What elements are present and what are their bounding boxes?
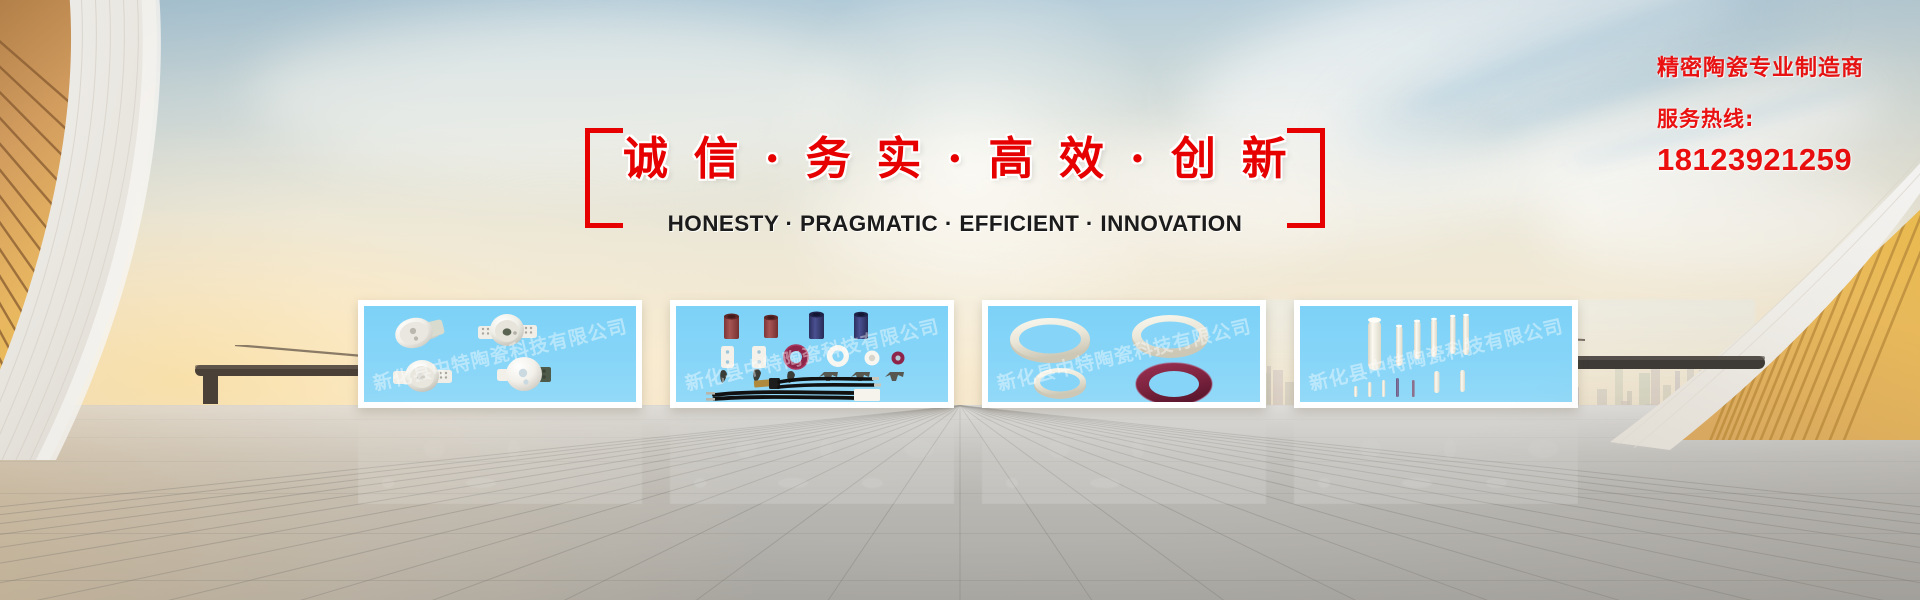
rods-image	[1300, 306, 1572, 402]
product-panel-ceramic-lamp-holders[interactable]: 新化县中特陶瓷科技有限公司	[358, 300, 642, 408]
lamp-holders-image	[364, 306, 636, 402]
slogan-chinese: 诚 信 · 务 实 · 高 效 · 创 新	[623, 122, 1287, 187]
bracket-right-icon	[1287, 128, 1325, 228]
slogan-english: HONESTY · PRAGMATIC · EFFICIENT · INNOVA…	[623, 211, 1287, 237]
hotline-phone-number[interactable]: 18123921259	[1657, 142, 1864, 178]
hotline-label: 服务热线:	[1657, 103, 1864, 133]
contact-block: 精密陶瓷专业制造商 服务热线: 18123921259	[1657, 50, 1864, 178]
slogan-block: 诚 信 · 务 实 · 高 效 · 创 新 HONESTY · PRAGMATI…	[585, 128, 1325, 233]
product-panel-ceramic-rods[interactable]: 新化县中特陶瓷科技有限公司	[1294, 300, 1578, 408]
bracket-left-icon	[585, 128, 623, 228]
product-panel-ceramic-rings[interactable]: 新化县中特陶瓷科技有限公司	[982, 300, 1266, 408]
product-panel-strip: 新化县中特陶瓷科技有限公司	[358, 300, 1578, 408]
rings-image	[988, 306, 1260, 402]
product-panel-ceramic-components[interactable]: 新化县中特陶瓷科技有限公司	[670, 300, 954, 408]
promotional-banner: 诚 信 · 务 实 · 高 效 · 创 新 HONESTY · PRAGMATI…	[0, 0, 1920, 600]
company-tagline: 精密陶瓷专业制造商	[1657, 50, 1864, 82]
components-image	[676, 306, 948, 402]
